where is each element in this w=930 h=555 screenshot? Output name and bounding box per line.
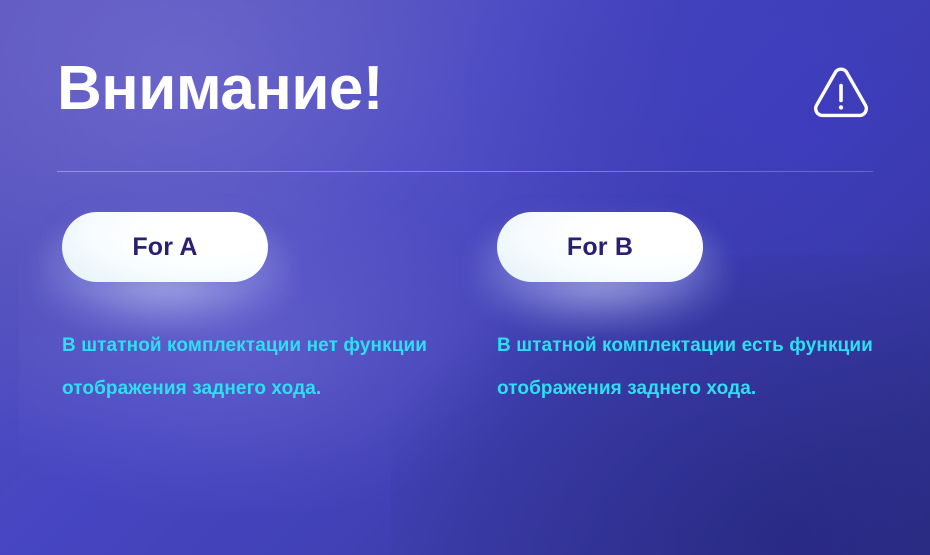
pill-wrapper-b: For B (497, 212, 703, 282)
pill-wrapper-a: For A (62, 212, 268, 282)
for-b-button[interactable]: For B (497, 212, 703, 282)
comparison-columns: For A В штатной комплектации нет функции… (0, 212, 930, 492)
for-a-button[interactable]: For A (62, 212, 268, 282)
column-for-a: For A В штатной комплектации нет функции… (62, 212, 462, 282)
for-a-button-label: For A (132, 235, 197, 260)
header-divider (57, 171, 873, 172)
column-for-b: For B В штатной комплектации есть функци… (497, 212, 897, 282)
for-b-button-label: For B (567, 235, 633, 260)
warning-slide: Внимание! For A В штатной комплектации н… (0, 0, 930, 555)
for-a-description: В штатной комплектации нет функции отобр… (62, 324, 454, 410)
for-b-description: В штатной комплектации есть функции отоб… (497, 324, 889, 410)
page-title: Внимание! (57, 52, 383, 126)
warning-triangle-icon (810, 62, 872, 122)
slide-header: Внимание! (0, 0, 930, 175)
